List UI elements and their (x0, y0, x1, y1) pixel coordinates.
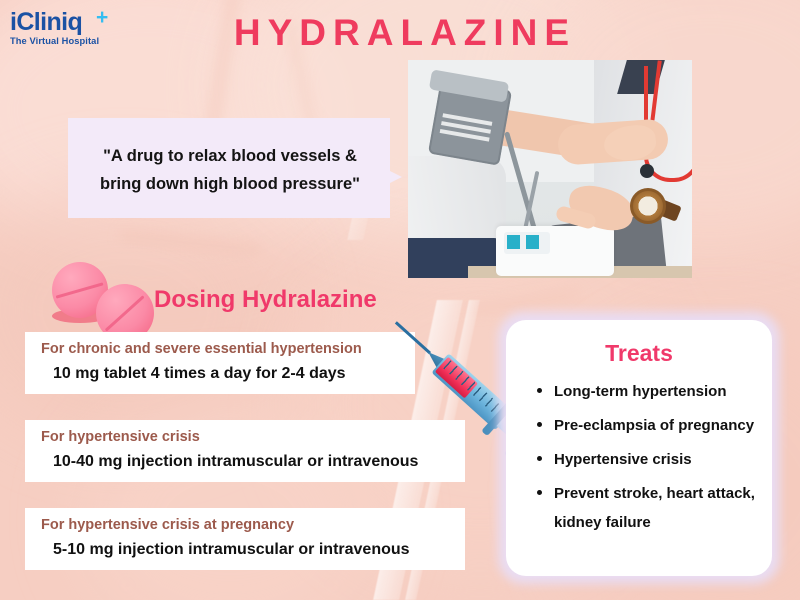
dosing-card-dose: 10 mg tablet 4 times a day for 2-4 days (53, 365, 346, 383)
quote-bubble: "A drug to relax blood vessels & bring d… (68, 118, 390, 218)
dosing-card-title: For chronic and severe essential hyperte… (41, 341, 362, 357)
quote-tail (384, 168, 402, 186)
dosing-card-title: For hypertensive crisis at pregnancy (41, 517, 294, 533)
quote-line-1: "A drug to relax blood vessels & (103, 147, 357, 165)
iclinic-logo[interactable]: iCliniq + The Virtual Hospital (10, 10, 122, 52)
dosing-card-dose: 10-40 mg injection intramuscular or intr… (53, 453, 418, 471)
dosing-card: For hypertensive crisis 10-40 mg injecti… (25, 420, 465, 482)
treats-list: Long-term hypertension Pre-eclampsia of … (532, 376, 760, 541)
dosing-card: For chronic and severe essential hyperte… (25, 332, 415, 394)
list-item: Hypertensive crisis (554, 444, 760, 474)
dosing-heading: Dosing Hydralazine (154, 286, 377, 314)
plus-icon: + (96, 7, 108, 28)
dosing-card: For hypertensive crisis at pregnancy 5-1… (25, 508, 465, 570)
blood-pressure-photo (408, 60, 692, 278)
dosing-card-dose: 5-10 mg injection intramuscular or intra… (53, 541, 410, 559)
logo-tagline: The Virtual Hospital (10, 36, 122, 46)
treats-heading: Treats (506, 340, 772, 367)
treats-panel: Treats Long-term hypertension Pre-eclamp… (506, 320, 772, 576)
page-title: HYDRALAZINE (190, 11, 620, 55)
list-item: Pre-eclampsia of pregnancy (554, 410, 760, 440)
logo-wordmark: iCliniq + (10, 10, 122, 35)
quote-text: "A drug to relax blood vessels & bring d… (86, 142, 374, 198)
list-item: Long-term hypertension (554, 376, 760, 406)
quote-line-2: bring down high blood pressure" (100, 175, 360, 193)
logo-text: iCliniq (10, 8, 82, 36)
dosing-card-title: For hypertensive crisis (41, 429, 200, 445)
list-item: Prevent stroke, heart attack, kidney fai… (554, 478, 760, 537)
